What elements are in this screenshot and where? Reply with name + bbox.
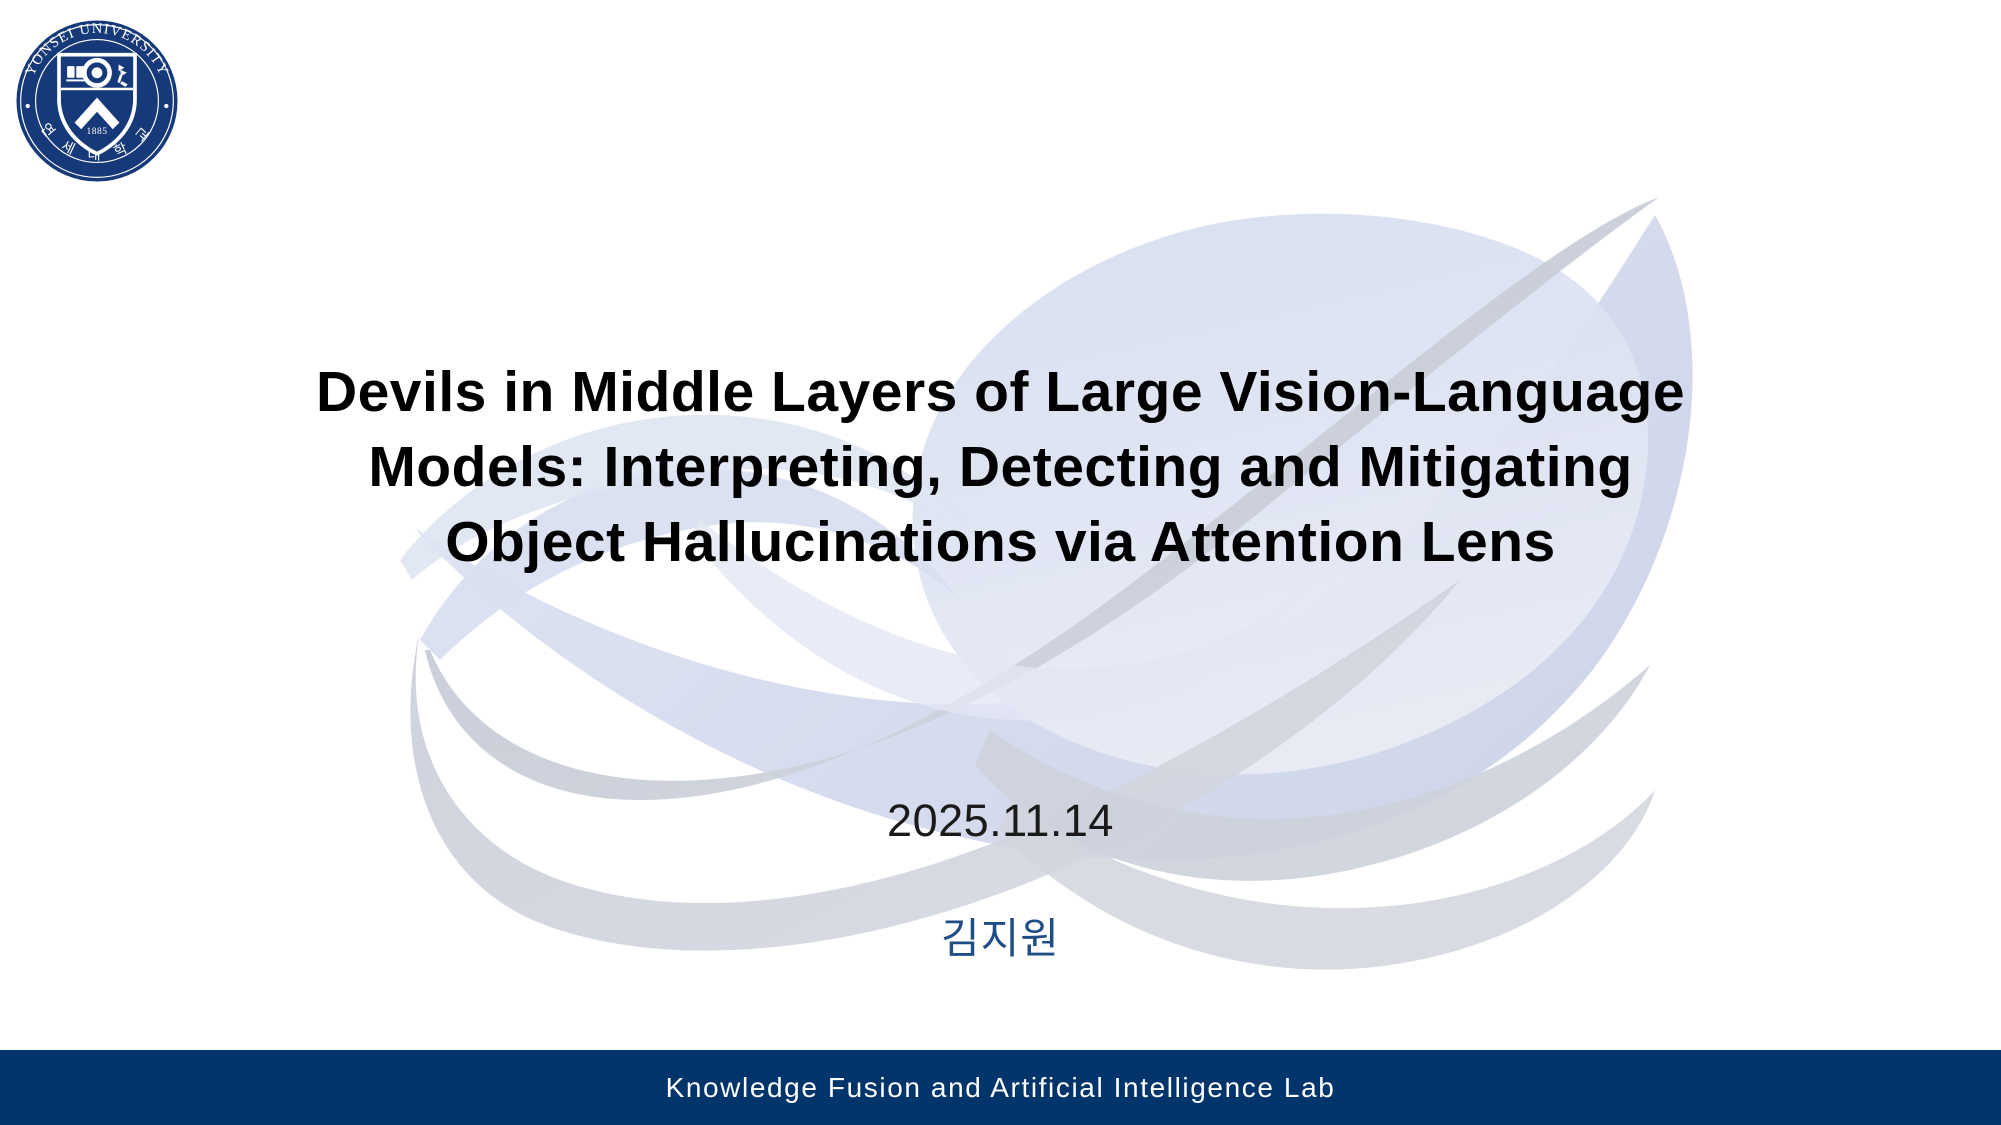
presentation-date: 2025.11.14 bbox=[0, 795, 2001, 847]
presenter-name: 김지원 bbox=[0, 905, 2001, 966]
title-line-1: Devils in Middle Layers of Large Vision-… bbox=[120, 355, 1881, 430]
title-line-2: Models: Interpreting, Detecting and Miti… bbox=[120, 430, 1881, 505]
title-line-3: Object Hallucinations via Attention Lens bbox=[120, 505, 1881, 580]
lab-name-label: Knowledge Fusion and Artificial Intellig… bbox=[666, 1072, 1336, 1104]
svg-text:1885: 1885 bbox=[86, 126, 107, 137]
footer-bar: Knowledge Fusion and Artificial Intellig… bbox=[0, 1050, 2001, 1125]
yonsei-university-logo: YONSEI UNIVERSITY 연 세 대 학 교 bbox=[14, 18, 180, 184]
slide-title: Devils in Middle Layers of Large Vision-… bbox=[0, 355, 2001, 580]
presentation-title-slide: YONSEI UNIVERSITY 연 세 대 학 교 bbox=[0, 0, 2001, 1125]
